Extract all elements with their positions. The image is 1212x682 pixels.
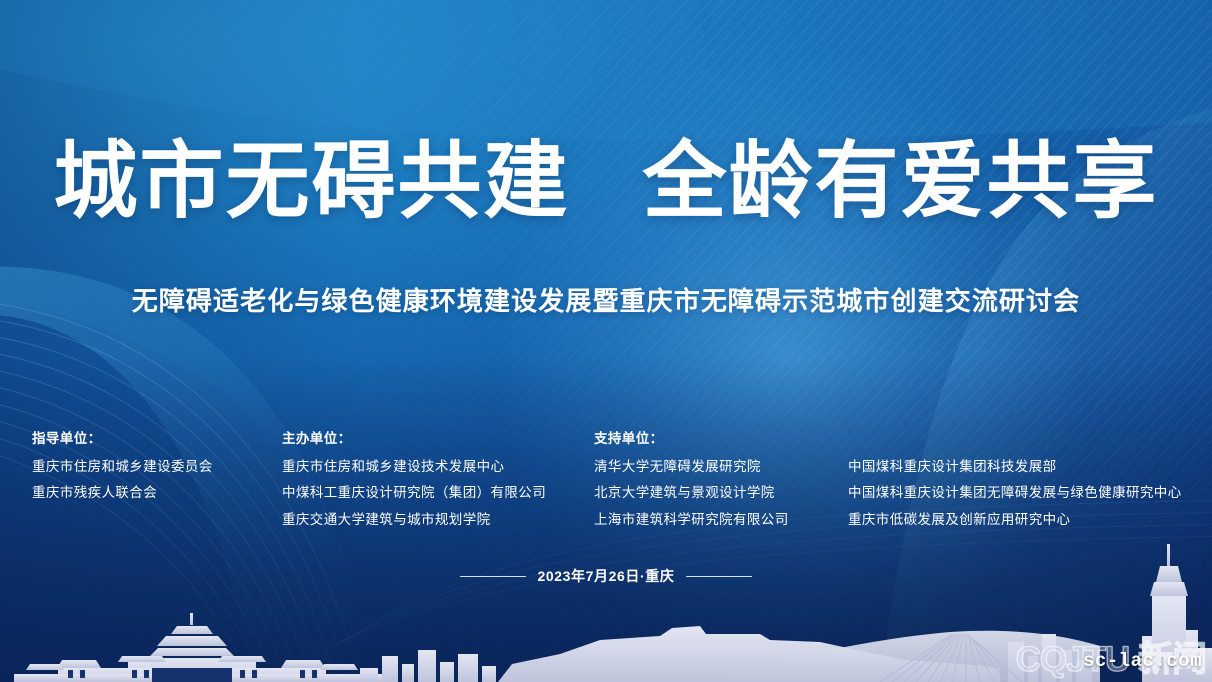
main-title: 城市无碍共建 全龄有爱共享 (0, 139, 1212, 225)
org-item: 中国煤科重庆设计集团科技发展部 (848, 460, 1182, 474)
org-item: 中煤科工重庆设计研究院（集团）有限公司 (282, 486, 546, 500)
org-item: 重庆市残疾人联合会 (32, 486, 213, 500)
date-location-text: 2023年7月26日·重庆 (538, 566, 675, 586)
rule-right (686, 576, 752, 577)
org-item: 重庆市住房和城乡建设技术发展中心 (282, 460, 546, 474)
subtitle: 无障碍适老化与绿色健康环境建设发展暨重庆市无障碍示范城市创建交流研讨会 (0, 281, 1212, 318)
watermark-url-text: sc-lac.com (1083, 650, 1202, 672)
watermark: CQJTU 新闻 sc-lac.com (1016, 643, 1206, 676)
org-item: 重庆交通大学建筑与城市规划学院 (282, 513, 546, 527)
org-item: 上海市建筑科学研究院有限公司 (594, 513, 789, 527)
org-column-header: 支持单位： (594, 432, 789, 446)
org-item: 北京大学建筑与景观设计学院 (594, 486, 789, 500)
org-item: 重庆市低碳发展及创新应用研究中心 (848, 513, 1182, 527)
conference-banner: 城市无碍共建 全龄有爱共享 无障碍适老化与绿色健康环境建设发展暨重庆市无障碍示范… (0, 0, 1212, 682)
org-column-support: 支持单位： 清华大学无障碍发展研究院 北京大学建筑与景观设计学院 上海市建筑科学… (594, 432, 789, 539)
org-column-guidance: 指导单位： 重庆市住房和城乡建设委员会 重庆市残疾人联合会 (32, 432, 213, 513)
org-column-header: 指导单位： (32, 432, 213, 446)
rule-left (460, 576, 526, 577)
organizations-block: 指导单位： 重庆市住房和城乡建设委员会 重庆市残疾人联合会 主办单位： 重庆市住… (0, 432, 1212, 542)
main-title-left: 城市无碍共建 (54, 139, 570, 225)
org-column-host: 主办单位： 重庆市住房和城乡建设技术发展中心 中煤科工重庆设计研究院（集团）有限… (282, 432, 546, 539)
main-title-right: 全龄有爱共享 (642, 139, 1158, 225)
org-item: 清华大学无障碍发展研究院 (594, 460, 789, 474)
org-column-header: 主办单位： (282, 432, 546, 446)
date-location-line: 2023年7月26日·重庆 (0, 566, 1212, 586)
watermark-logo-text: CQJTU 新闻 (1016, 643, 1206, 676)
org-item: 重庆市住房和城乡建设委员会 (32, 460, 213, 474)
org-column-support-continued: 中国煤科重庆设计集团科技发展部 中国煤科重庆设计集团无障碍发展与绿色健康研究中心… (848, 432, 1182, 539)
org-item: 中国煤科重庆设计集团无障碍发展与绿色健康研究中心 (848, 486, 1182, 500)
